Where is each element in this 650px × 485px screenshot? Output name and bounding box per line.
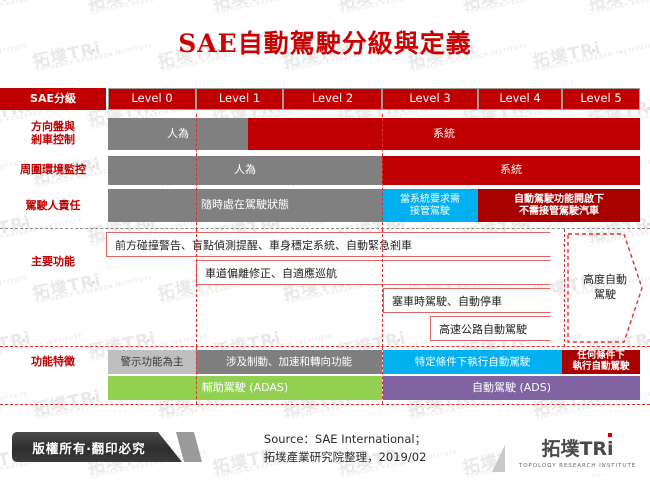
column-separator-level3-low	[382, 347, 383, 404]
row1-system-cell: 系統	[248, 118, 640, 150]
row3-always-driving-cell: 隨時處在駕駛狀態	[108, 189, 382, 222]
tri-logo-wordmark: 拓墣TRi	[541, 434, 613, 461]
row2-system-cell: 系統	[382, 156, 640, 185]
copyright-ribbon: 版權所有‧翻印必究	[12, 432, 182, 462]
tri-logo-red-dot-icon	[608, 433, 612, 437]
column-separator-level1-mid	[196, 229, 197, 347]
row-label-environment-monitor: 周圍環境監控	[0, 154, 106, 186]
feature-cell-warning-only: 警示功能為主	[108, 350, 196, 374]
column-separator-level5-mid	[564, 229, 565, 347]
row-label-driver-responsibility: 駕駛人責任	[0, 188, 106, 224]
separator-bottom	[0, 404, 650, 405]
column-header-level-3: Level 3	[382, 88, 478, 110]
band-ads: 自動駕駛 (ADS)	[383, 376, 640, 400]
row-label-steering-brake: 方向盤與 剎車控制	[0, 114, 106, 154]
column-separator-level3-mid	[382, 229, 383, 347]
separator-above-main-functions	[0, 228, 650, 229]
column-header-level-5: Level 5	[562, 88, 640, 110]
source-note: Source：SAE International； 拓墣產業研究院整理，2019…	[200, 431, 490, 467]
table-corner-header: SAE分級	[0, 88, 106, 110]
row-label-main-functions: 主要功能	[0, 248, 106, 276]
column-header-level-2: Level 2	[283, 88, 382, 110]
tri-logo-subtitle: TOPOLOGY RESEARCH INSTITUTE	[519, 463, 636, 469]
column-header-level-1: Level 1	[196, 88, 283, 110]
row3-no-takeover-cell: 自動駕駛功能開啟下 不需接管駕駛汽車	[478, 189, 640, 222]
band-adas: 輔助駕駛 (ADAS)	[108, 376, 382, 400]
source-line-2: 拓墣產業研究院整理，2019/02	[200, 449, 490, 467]
main-function-arrow-1: 前方碰撞警告、盲點偵測提醒、車身穩定系統、自動緊急剎車	[106, 232, 564, 257]
column-header-level-4: Level 4	[478, 88, 562, 110]
column-separator-level1-low	[196, 347, 197, 404]
separator-below-main-functions	[0, 346, 650, 347]
column-separator-level1	[196, 114, 197, 230]
copyright-text: 版權所有‧翻印必究	[32, 438, 161, 457]
feature-cell-conditional-automation: 特定條件下執行自動駕駛	[383, 350, 562, 374]
title-band: SAE自動駕駛分級與定義	[0, 8, 650, 78]
feature-cell-brake-accel-steer: 涉及制動、加速和轉向功能	[196, 350, 382, 374]
footer: 版權所有‧翻印必究 Source：SAE International； 拓墣產業…	[0, 428, 650, 485]
row-label-feature-traits: 功能特徵	[0, 350, 106, 374]
tri-logo-text: 拓墣TRi	[541, 438, 613, 460]
main-function-arrow-4: 高速公路自動駕駛	[430, 316, 564, 341]
feature-cell-full-automation: 任何條件下 執行自動駕駛	[562, 350, 640, 374]
ribbon-tail	[176, 432, 202, 462]
column-header-level-0: Level 0	[108, 88, 196, 110]
tri-logo: 拓墣TRi TOPOLOGY RESEARCH INSTITUTE	[505, 428, 650, 474]
page-title: SAE自動駕駛分級與定義	[0, 24, 650, 60]
source-line-1: Source：SAE International；	[200, 431, 490, 449]
row1-human-cell: 人為	[108, 118, 248, 150]
row3-takeover-on-request-cell: 當系統要求需 接管駕駛	[382, 189, 478, 222]
row2-human-cell: 人為	[108, 156, 382, 185]
column-separator-level3	[382, 114, 383, 230]
high-automation-arrow: 高度自動 駕駛	[566, 232, 644, 344]
main-function-arrow-2: 車道偏離修正、自適應巡航	[196, 260, 564, 285]
main-function-arrow-3: 塞車時駕駛、自動停車	[383, 288, 564, 313]
slide-root: 拓墣TRiTOPOLOGY RESEARCH INSTITUTE拓墣TRiTOP…	[0, 0, 650, 485]
sae-levels-table: SAE分級 Level 0 Level 1 Level 2 Level 3 Le…	[0, 88, 650, 418]
